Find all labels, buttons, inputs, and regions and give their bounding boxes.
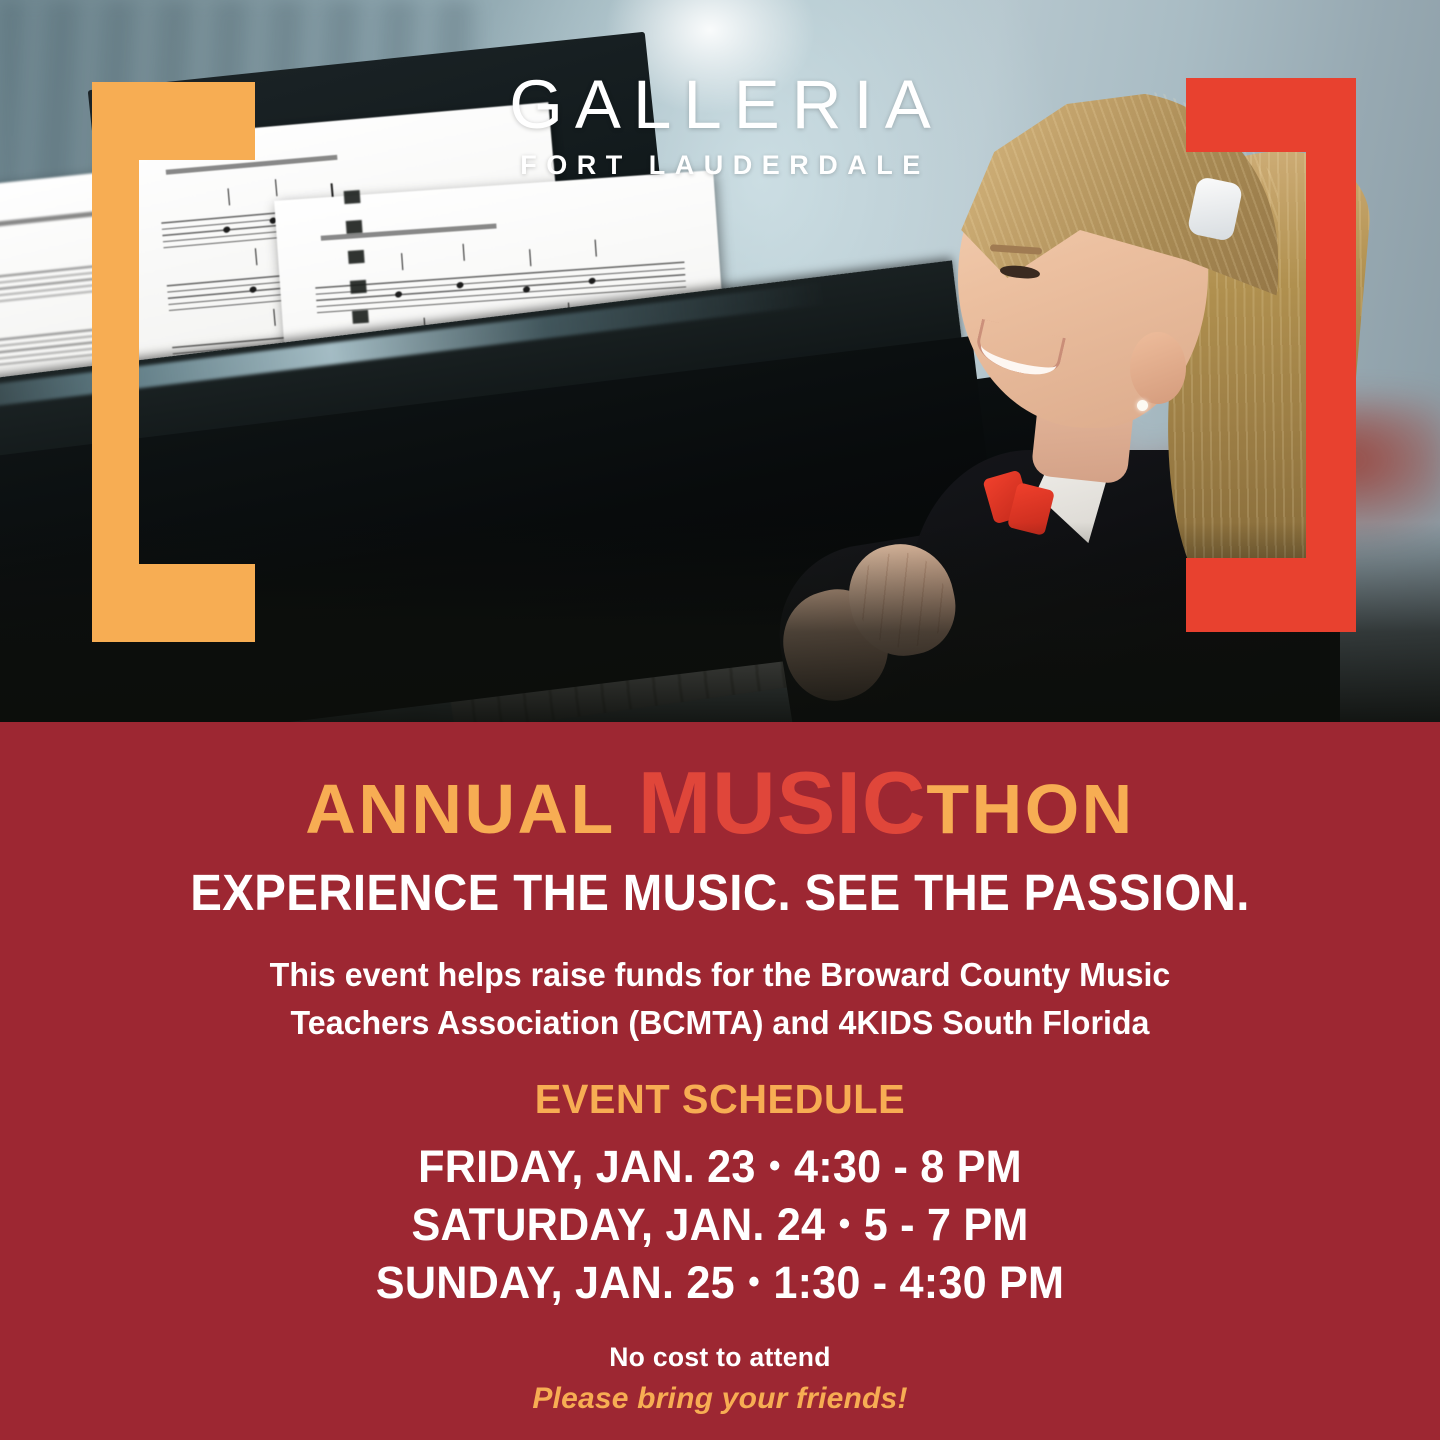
schedule-item: FRIDAY, JAN. 23•4:30 - 8 PM [29, 1138, 1411, 1196]
event-description-line-2: Teachers Association (BCMTA) and 4KIDS S… [29, 1000, 1411, 1048]
event-description-line-1: This event helps raise funds for the Bro… [29, 952, 1411, 1000]
event-tagline: EXPERIENCE THE MUSIC. SEE THE PASSION. [50, 863, 1389, 922]
schedule-item: SATURDAY, JAN. 24•5 - 7 PM [29, 1196, 1411, 1254]
event-title-annual: ANNUAL [305, 770, 616, 848]
admission-note: No cost to attend [0, 1342, 1440, 1373]
schedule-separator-icon: • [748, 1261, 760, 1305]
galleria-logo: GALLERIA FORT LAUDERDALE [0, 70, 1440, 179]
invite-note: Please bring your friends! [0, 1382, 1440, 1416]
schedule-item-time: 5 - 7 PM [864, 1199, 1029, 1250]
schedule-separator-icon: • [839, 1203, 851, 1247]
logo-location: FORT LAUDERDALE [0, 152, 1440, 179]
event-title-thon: THON [926, 770, 1134, 848]
schedule-item-day: FRIDAY, JAN. 23 [418, 1141, 755, 1192]
schedule-item-time: 1:30 - 4:30 PM [773, 1257, 1064, 1308]
girl-earring [1137, 400, 1148, 411]
info-panel: ANNUALMUSICTHON EXPERIENCE THE MUSIC. SE… [0, 722, 1440, 1440]
schedule-item: SUNDAY, JAN. 25•1:30 - 4:30 PM [29, 1254, 1411, 1312]
schedule-item-day: SATURDAY, JAN. 24 [411, 1199, 825, 1250]
hero-photo: GALLERIA FORT LAUDERDALE [0, 0, 1440, 722]
event-description: This event helps raise funds for the Bro… [29, 952, 1411, 1047]
schedule-item-time: 4:30 - 8 PM [794, 1141, 1022, 1192]
schedule-list: FRIDAY, JAN. 23•4:30 - 8 PM SATURDAY, JA… [0, 1138, 1440, 1312]
event-title: ANNUALMUSICTHON [0, 759, 1440, 847]
girl-ear [1130, 332, 1186, 404]
event-title-music: MUSIC [638, 753, 927, 852]
schedule-heading: EVENT SCHEDULE [22, 1076, 1419, 1123]
logo-wordmark: GALLERIA [0, 70, 1440, 139]
schedule-separator-icon: • [769, 1145, 781, 1189]
promotional-poster: GALLERIA FORT LAUDERDALE ANNUALMUSICTHON… [0, 0, 1440, 1440]
schedule-item-day: SUNDAY, JAN. 25 [376, 1257, 735, 1308]
